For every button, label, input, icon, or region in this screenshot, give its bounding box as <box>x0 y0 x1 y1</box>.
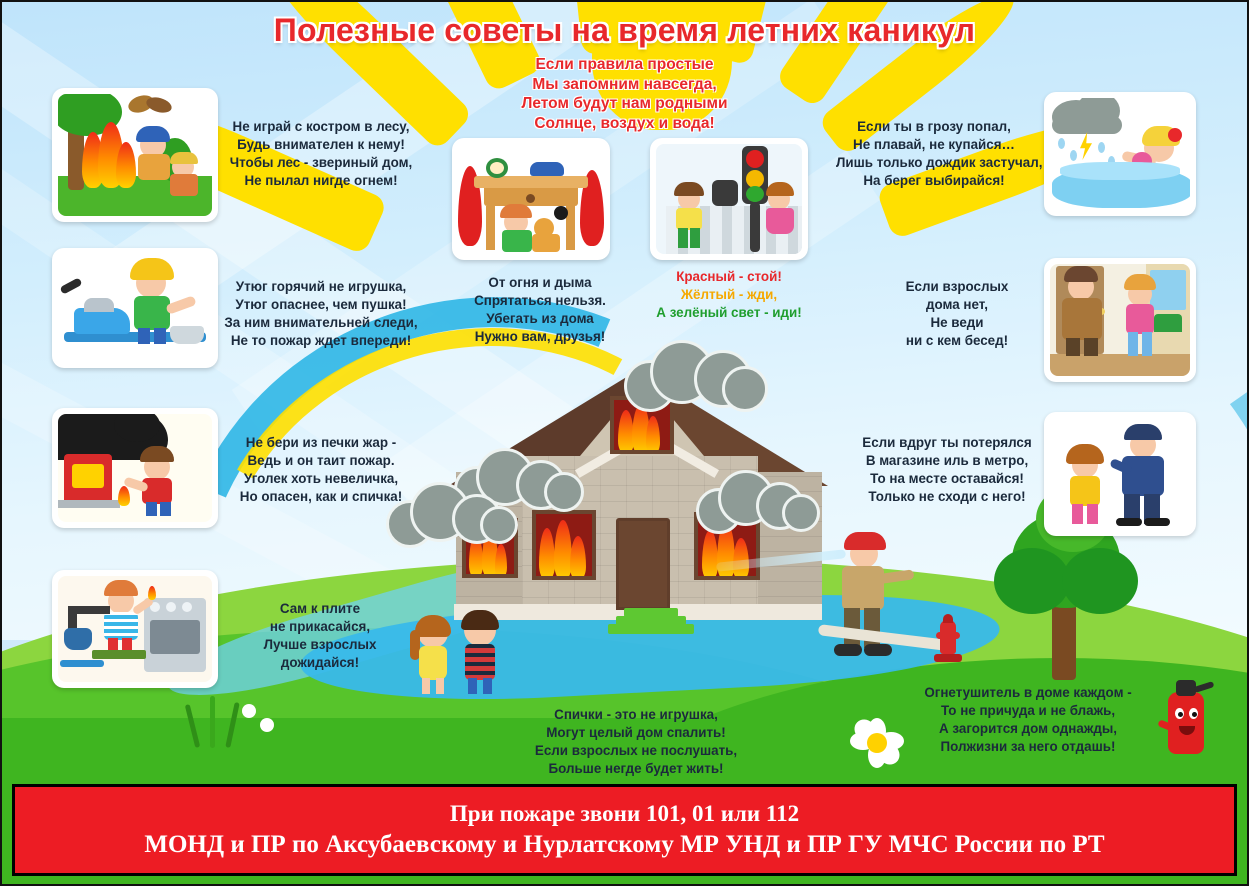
verse-traffic-yellow: Жёлтый - жди, <box>650 286 808 304</box>
child-boy-figure <box>456 612 504 696</box>
verse-traffic-green: А зелёный свет - иди! <box>640 304 818 322</box>
emergency-phone-line: При пожаре звони 101, 01 или 112 <box>450 801 799 827</box>
subtitle-line: Если правила простые <box>0 55 1249 75</box>
traffic-light-icon <box>656 144 802 254</box>
card-campfire <box>52 88 218 222</box>
verse-lost-child: Если вдруг ты потерялся В магазине иль в… <box>854 434 1040 506</box>
grass-tuft-decoration <box>180 694 300 748</box>
stranger-at-door-icon <box>1050 264 1190 376</box>
card-lost-child <box>1044 412 1196 536</box>
card-iron <box>52 248 218 368</box>
fire-hydrant-icon <box>934 614 962 664</box>
daisy-flower-decoration <box>848 714 906 772</box>
child-hiding-under-table-icon <box>458 144 604 254</box>
card-thunderstorm <box>1044 92 1196 216</box>
stove-ember-icon <box>58 414 212 522</box>
storm-swimming-icon <box>1050 98 1190 210</box>
campfire-forest-icon <box>58 94 212 216</box>
organization-line: МОНД и ПР по Аксубаевскому и Нурлатскому… <box>144 831 1104 859</box>
card-hiding <box>452 138 610 260</box>
firefighter-figure <box>828 532 914 656</box>
smoke-cloud <box>696 466 816 528</box>
verse-stranger: Если взрослых дома нет, Не веди ни с кем… <box>882 278 1032 350</box>
gas-cooker-icon <box>58 576 212 682</box>
house-window-fire <box>532 510 596 580</box>
verse-hiding: От огня и дыма Спрятаться нельзя. Убегат… <box>450 274 630 346</box>
verse-extinguisher: Огнетушитель в доме каждом - То не причу… <box>910 684 1146 756</box>
verse-matches: Спички - это не игрушка, Могут целый дом… <box>520 706 752 778</box>
card-stranger <box>1044 258 1196 382</box>
verse-cooker: Сам к плите не прикасайся, Лучше взрослы… <box>232 600 408 672</box>
smoke-cloud <box>624 338 764 412</box>
verse-campfire: Не играй с костром в лесу, Будь внимател… <box>218 118 424 190</box>
page-title: Полезные советы на время летних каникул <box>0 12 1249 49</box>
verse-stove-ember: Не бери из печки жар - Ведь и он таит по… <box>212 434 430 506</box>
hot-iron-icon <box>58 254 212 362</box>
house-door <box>616 518 670 610</box>
burning-house-illustration <box>448 352 828 662</box>
house-steps <box>608 608 694 634</box>
verse-thunderstorm: Если ты в грозу попал, Не плавай, не куп… <box>836 118 1032 190</box>
card-stove-ember <box>52 408 218 528</box>
safety-poster: Полезные советы на время летних каникул … <box>0 0 1249 886</box>
emergency-contact-banner: При пожаре звони 101, 01 или 112 МОНД и … <box>12 784 1237 876</box>
verse-iron: Утюг горячий не игрушка, Утюг опаснее, ч… <box>212 278 430 350</box>
card-traffic-light <box>650 138 808 260</box>
fire-extinguisher-mascot <box>1158 678 1216 762</box>
policeman-lost-child-icon <box>1050 418 1190 530</box>
card-cooker <box>52 570 218 688</box>
child-girl-figure <box>410 618 454 696</box>
verse-traffic-red: Красный - стой! <box>650 268 808 286</box>
